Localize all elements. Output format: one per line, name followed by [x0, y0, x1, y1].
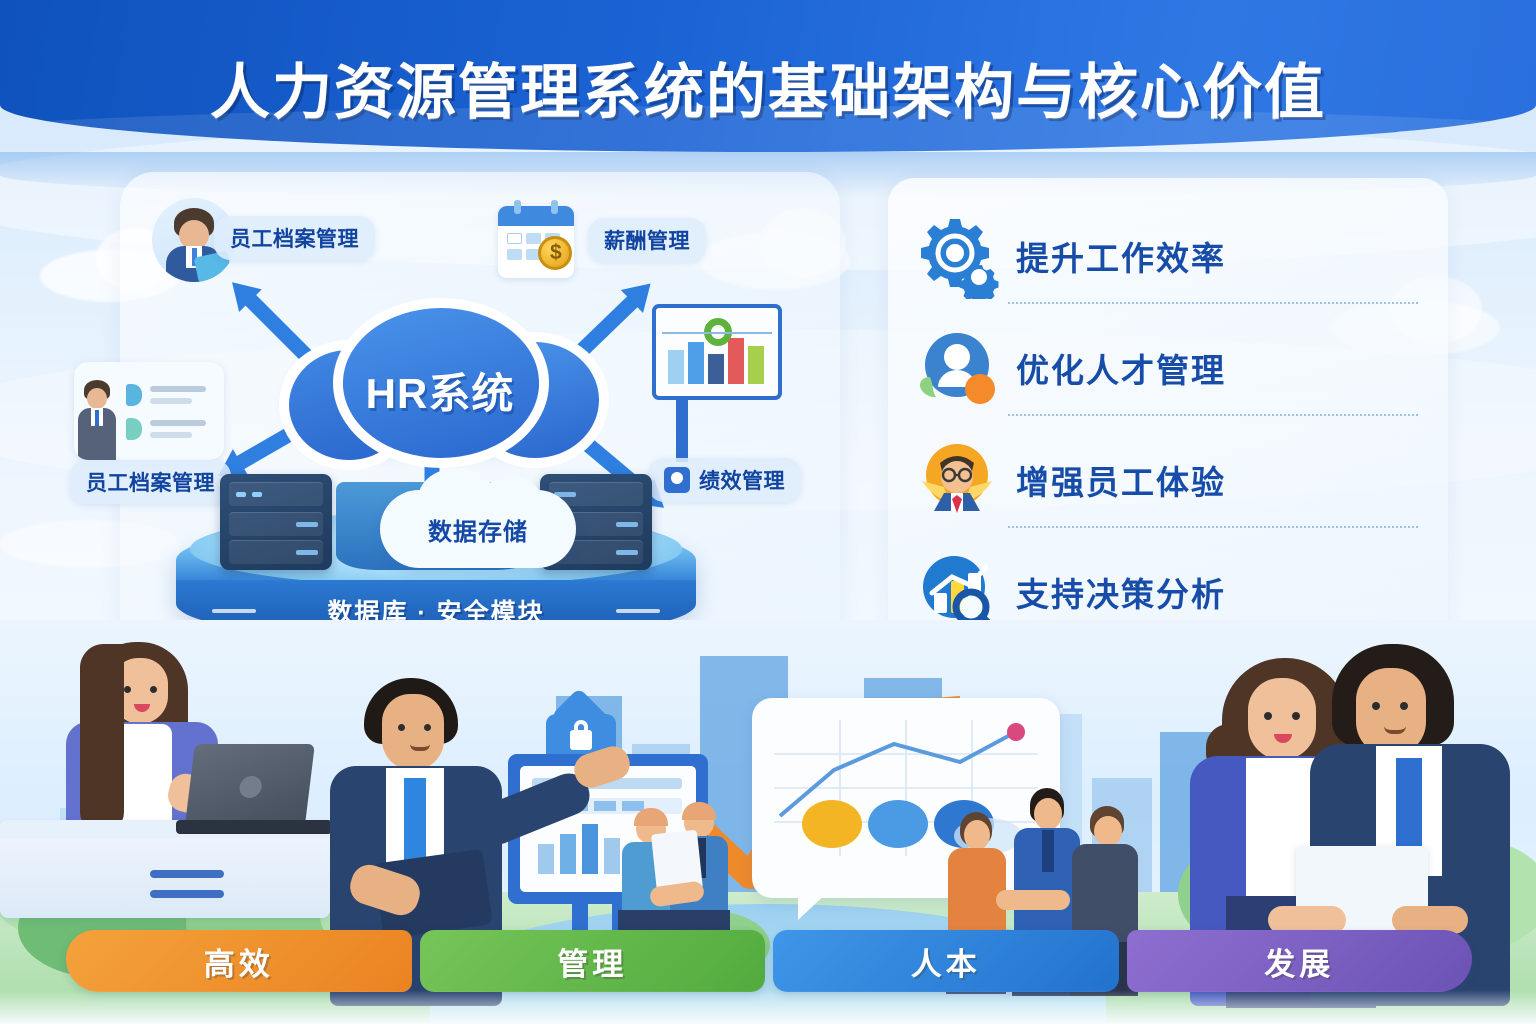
benefit-label: 提升工作效率	[1016, 232, 1226, 280]
user-group-icon	[914, 325, 1000, 411]
server-rack-icon: 数据存储	[220, 468, 652, 572]
keyword-pill-development[interactable]: 发展	[1127, 930, 1473, 992]
infographic-poster: 人力资源管理系统的基础架构与核心价值 员工档案管理	[0, 0, 1536, 1024]
node-label-pill: 员工档案管理	[214, 216, 375, 260]
header-banner: 人力资源管理系统的基础架构与核心价值	[0, 0, 1536, 152]
page-title: 人力资源管理系统的基础架构与核心价值	[0, 44, 1536, 131]
benefit-item-talent[interactable]: 优化人才管理	[914, 312, 1422, 424]
resume-card-icon	[74, 362, 224, 460]
laptop-base	[176, 820, 332, 834]
laptop-screen	[185, 744, 315, 824]
gear-icon	[914, 213, 1000, 299]
payroll-calendar-icon: $	[498, 206, 574, 278]
benefit-label: 增强员工体验	[1016, 456, 1226, 504]
benefit-label: 支持决策分析	[1016, 568, 1226, 616]
keyword-pill-bar: 高效 管理 人本 发展	[66, 930, 1472, 992]
happy-employee-icon	[914, 437, 1000, 523]
benefit-divider	[1008, 302, 1418, 304]
benefit-item-efficiency[interactable]: 提升工作效率	[914, 200, 1422, 312]
hr-system-label: HR系统	[281, 302, 599, 452]
keyword-pill-management[interactable]: 管理	[420, 930, 766, 992]
core-value-panel: 提升工作效率 优化人才管理	[888, 178, 1448, 658]
keyword-pill-efficiency[interactable]: 高效	[66, 930, 412, 992]
desk	[0, 820, 330, 918]
bottom-fade	[0, 990, 1536, 1024]
benefit-divider	[1008, 526, 1418, 528]
data-storage-cloud[interactable]: 数据存储	[380, 490, 576, 568]
benefit-item-experience[interactable]: 增强员工体验	[914, 424, 1422, 536]
hr-system-cloud[interactable]: HR系统	[281, 302, 599, 452]
node-label-pill: 薪酬管理	[588, 218, 706, 262]
benefit-divider	[1008, 414, 1418, 416]
performance-chart-icon	[652, 304, 782, 400]
benefit-label: 优化人才管理	[1016, 344, 1226, 392]
keyword-pill-people[interactable]: 人本	[773, 930, 1119, 992]
